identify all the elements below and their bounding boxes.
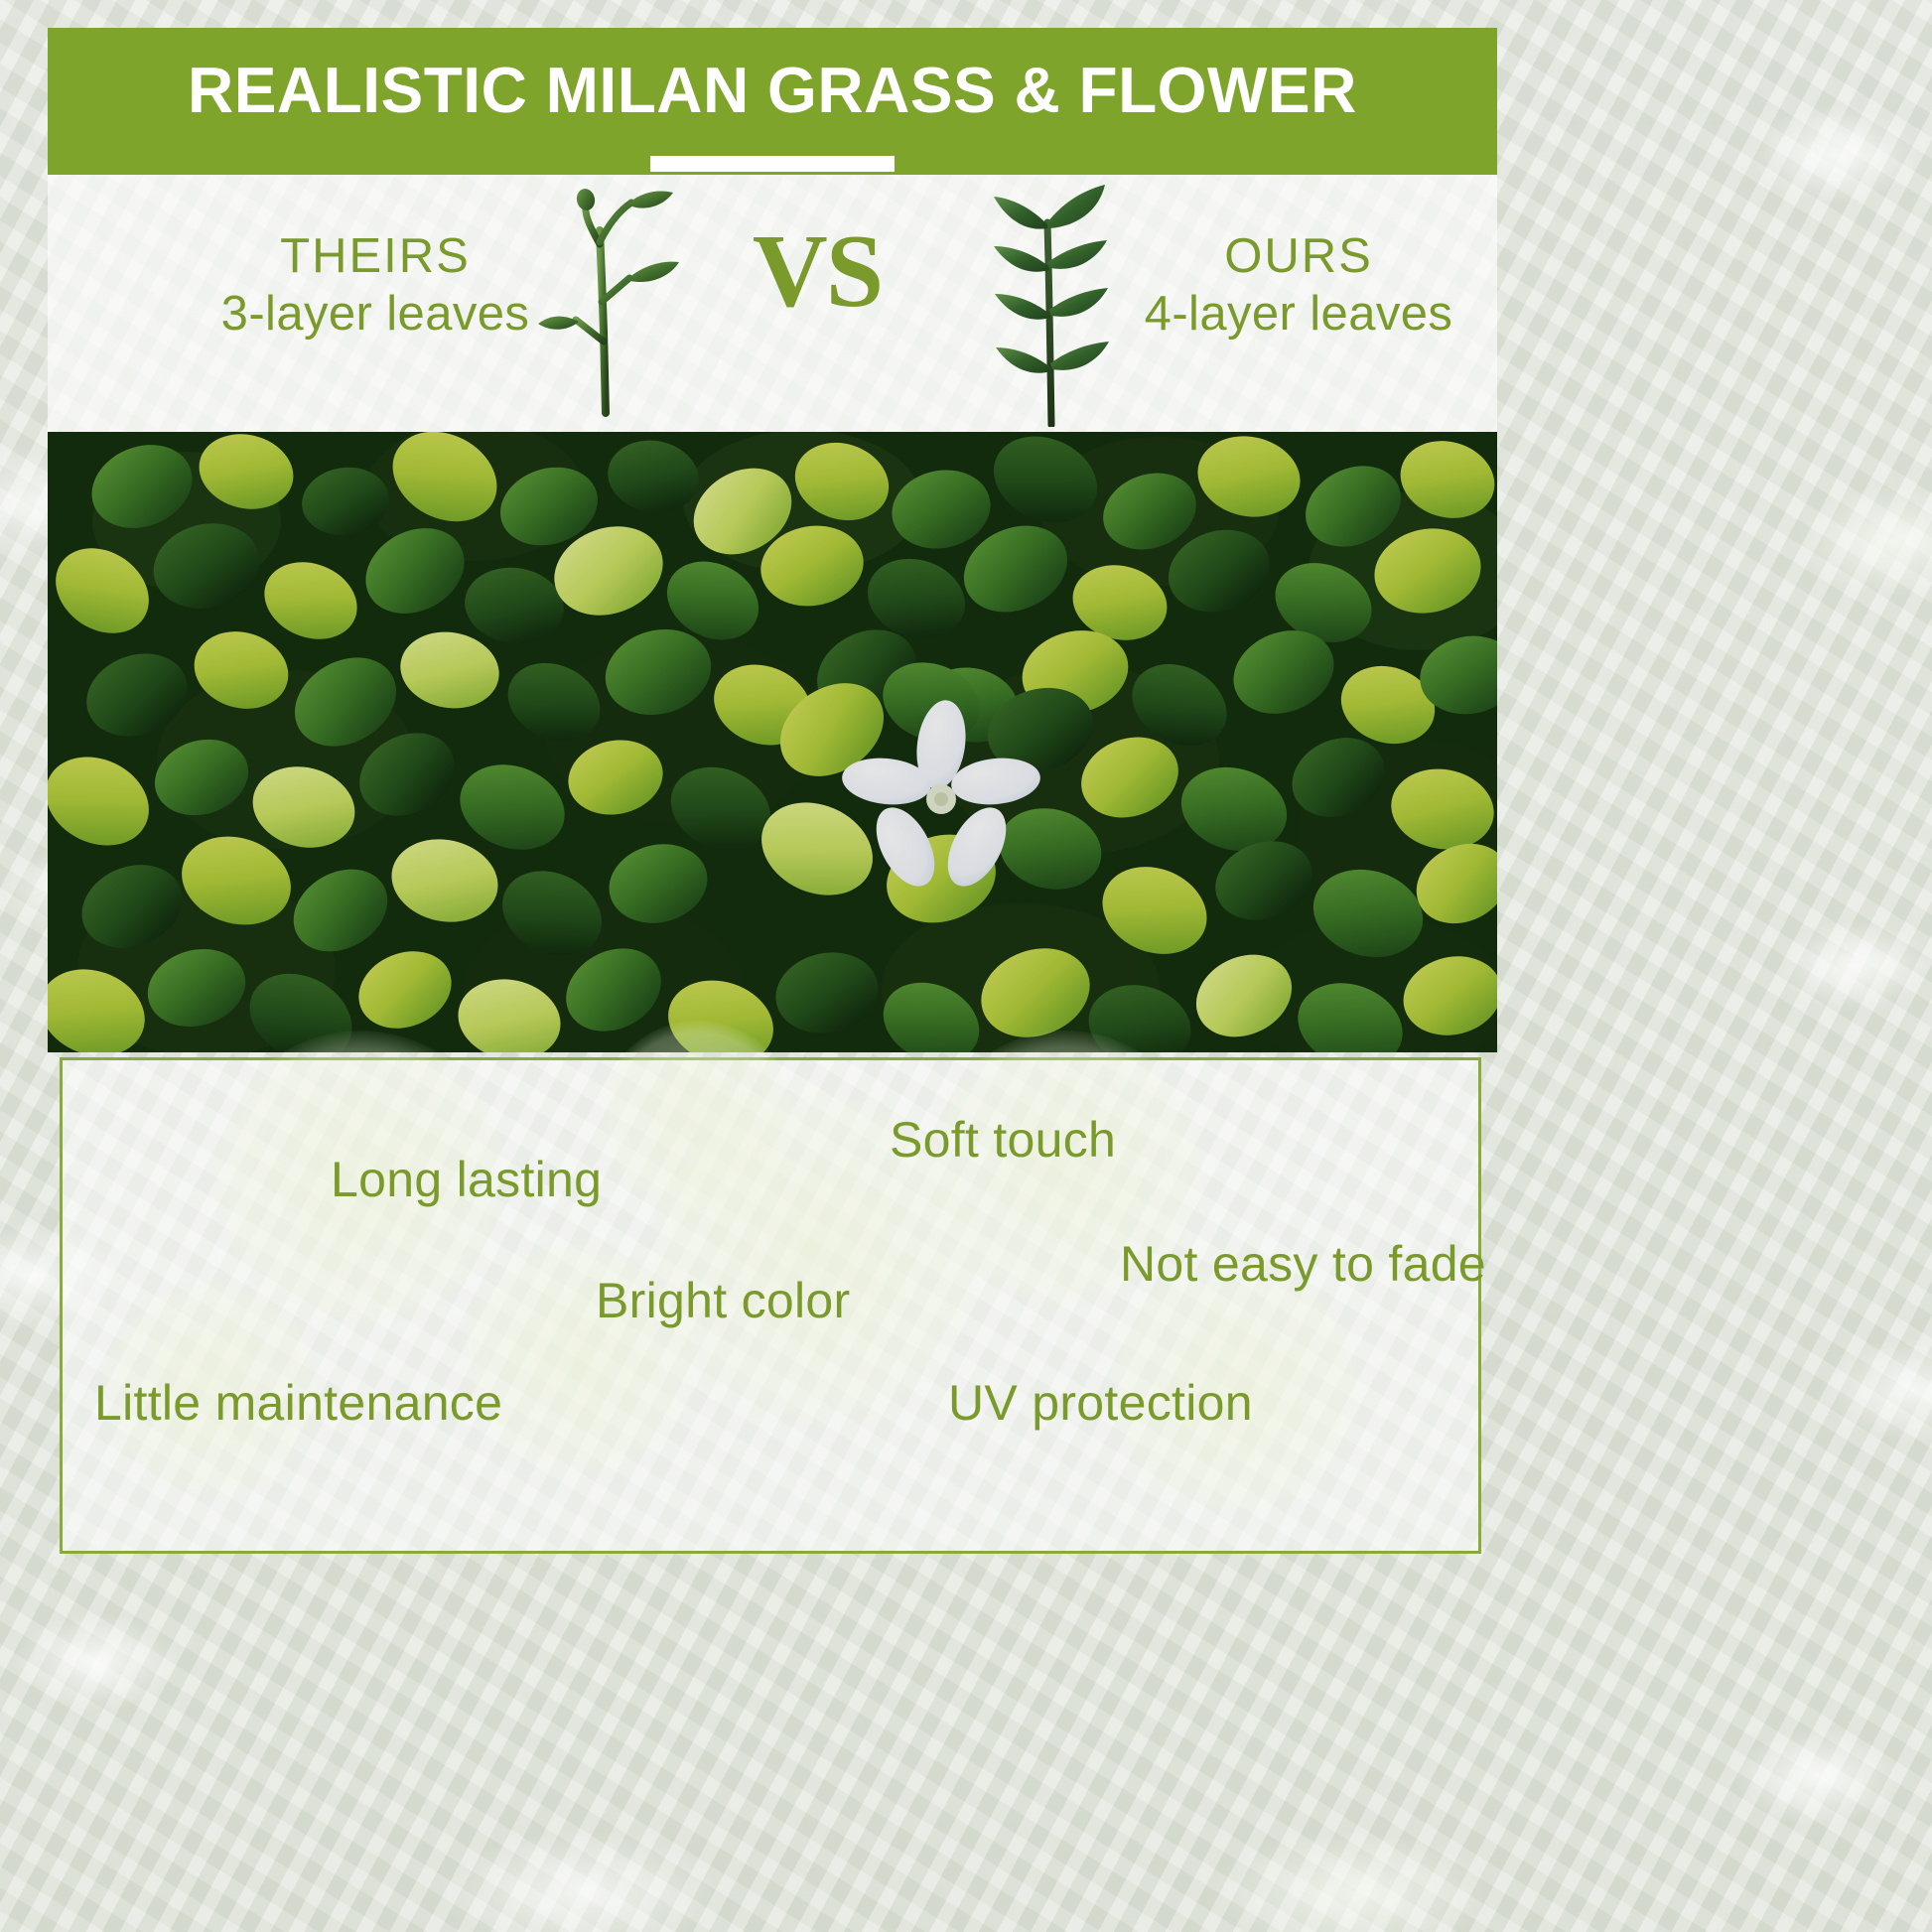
feature-label: Bright color [596,1276,850,1325]
page-title: REALISTIC MILAN GRASS & FLOWER [188,58,1357,122]
feature-label: Not easy to fade [1120,1239,1486,1289]
feature-label: UV protection [948,1378,1253,1428]
feature-label: Little maintenance [94,1378,502,1428]
sparse-sprig-icon [524,183,693,421]
comparison-band: THEIRS 3-layer leaves VS [48,175,1497,432]
theirs-heading: THEIRS [167,228,584,286]
ours-label-group: OURS 4-layer leaves [1100,228,1497,344]
feature-label: Soft touch [890,1115,1116,1165]
theirs-label-group: THEIRS 3-layer leaves [167,228,584,344]
theirs-subheading: 3-layer leaves [221,287,530,341]
feature-label: Long lasting [331,1155,602,1204]
ours-subheading: 4-layer leaves [1145,287,1453,341]
title-underline-rule [650,156,895,172]
features-panel: Long lastingSoft touchNot easy to fadeBr… [60,1057,1481,1554]
vs-mark: VS [743,218,892,323]
product-photo [48,432,1497,1052]
header-banner: REALISTIC MILAN GRASS & FLOWER [48,28,1497,175]
ours-heading: OURS [1100,228,1497,286]
foliage-photo [48,432,1497,1052]
